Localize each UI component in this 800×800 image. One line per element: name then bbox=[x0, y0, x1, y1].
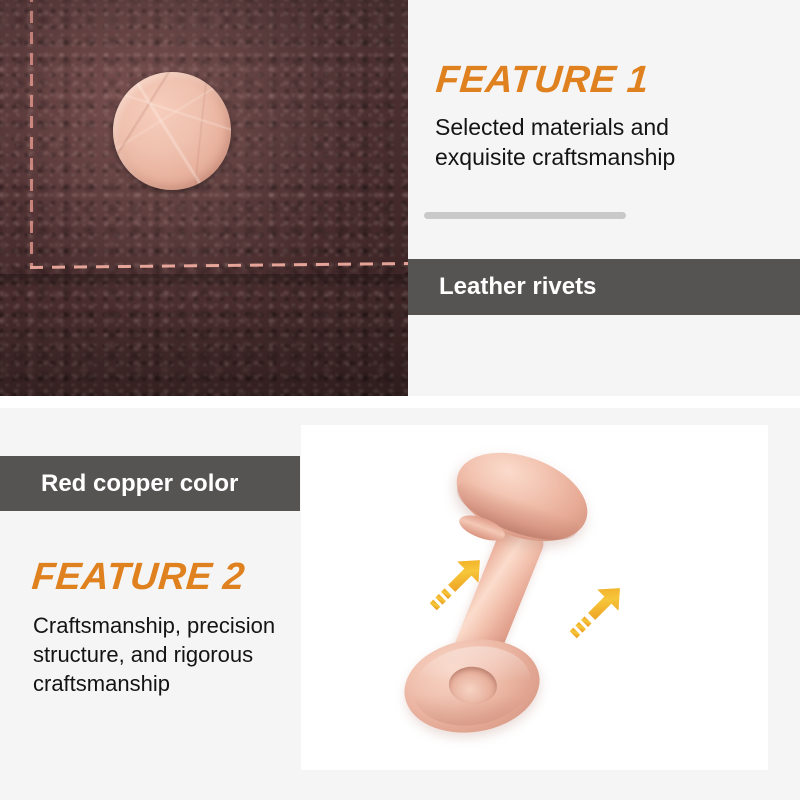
motion-arrow-right-icon bbox=[559, 571, 637, 649]
infographic-page: FEATURE 1 Selected materials and exquisi… bbox=[0, 0, 800, 800]
feature-1-kicker: FEATURE 1 bbox=[434, 59, 651, 102]
leather-vignette-overlay bbox=[0, 0, 408, 396]
top-text-panel: FEATURE 1 Selected materials and exquisi… bbox=[408, 0, 800, 396]
leather-rivets-ribbon-label: Leather rivets bbox=[439, 273, 596, 301]
leather-product-photo bbox=[0, 0, 408, 396]
top-feature-section: FEATURE 1 Selected materials and exquisi… bbox=[0, 0, 800, 396]
red-copper-color-ribbon: Red copper color bbox=[0, 456, 300, 511]
bottom-feature-section: Red copper color FEATURE 2 Craftsmanship… bbox=[0, 408, 800, 800]
feature-2-kicker: FEATURE 2 bbox=[30, 556, 247, 599]
red-copper-color-ribbon-label: Red copper color bbox=[41, 470, 238, 498]
section-gap-separator bbox=[0, 396, 800, 408]
motion-arrow-left-icon bbox=[419, 543, 497, 621]
rivet-washer bbox=[398, 630, 547, 742]
feature-2-description: Craftsmanship, precision structure, and … bbox=[33, 611, 288, 698]
divider-bar bbox=[424, 212, 626, 219]
rivet-product-photo-panel bbox=[301, 425, 768, 770]
feature-1-description: Selected materials and exquisite craftsm… bbox=[435, 112, 765, 172]
rivet-exploded-illustration bbox=[301, 425, 768, 770]
leather-rivets-ribbon: Leather rivets bbox=[408, 259, 800, 315]
